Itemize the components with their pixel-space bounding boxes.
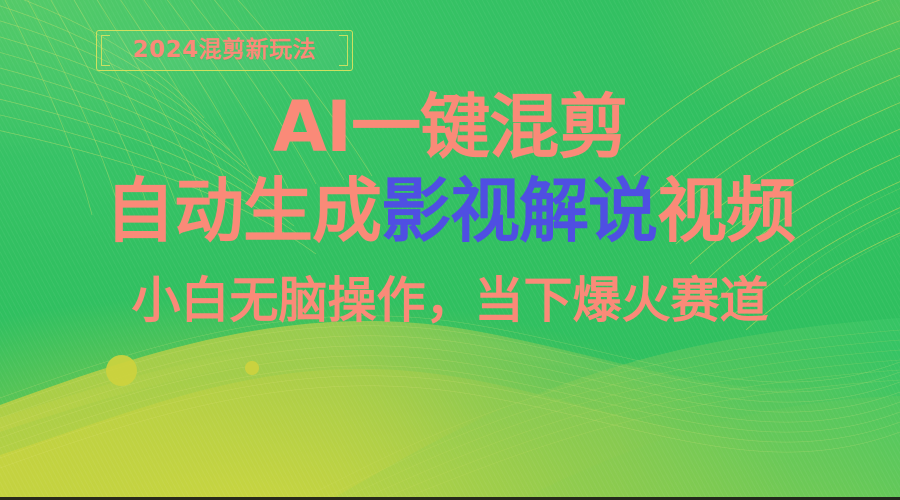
promo-badge: 2024混剪新玩法	[96, 30, 353, 71]
headline-line-1: AI一键混剪	[0, 92, 900, 162]
headline-block: AI一键混剪 自动生成影视解说视频 小白无脑操作，当下爆火赛道	[0, 92, 900, 325]
headline-line-3: 小白无脑操作，当下爆火赛道	[0, 276, 900, 325]
decorative-circle-large	[106, 355, 137, 386]
promo-poster: 2024混剪新玩法 AI一键混剪 自动生成影视解说视频 小白无脑操作，当下爆火赛…	[0, 0, 900, 500]
headline-line-2-part-2: 影视解说	[381, 170, 657, 252]
headline-line-2: 自动生成影视解说视频	[0, 176, 900, 246]
promo-badge-label: 2024混剪新玩法	[133, 39, 317, 62]
decorative-circle-small	[245, 361, 259, 375]
headline-line-1-part-1: AI一键混剪	[273, 86, 627, 168]
headline-line-3-part-1: 小白无脑操作，当下爆火赛道	[131, 272, 768, 329]
headline-line-2-part-1: 自动生成	[105, 170, 381, 252]
headline-line-2-part-3: 视频	[657, 170, 795, 252]
